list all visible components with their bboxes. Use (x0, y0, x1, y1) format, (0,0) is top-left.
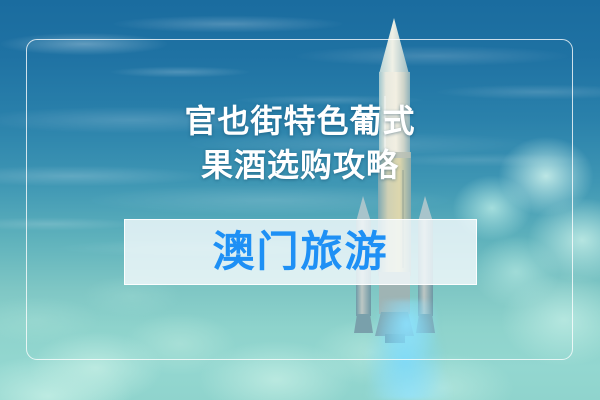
headline: 官也街特色葡式 果酒选购攻略 (0, 100, 600, 187)
headline-line-1: 官也街特色葡式 (0, 100, 600, 144)
headline-line-2: 果酒选购攻略 (0, 144, 600, 188)
rocket-illustration (0, 0, 600, 400)
subtitle-band-label: 澳门旅游 (212, 231, 388, 273)
rocket-exhaust-plume (352, 300, 462, 400)
promo-banner: 官也街特色葡式 果酒选购攻略 澳门旅游 (0, 0, 600, 400)
subtitle-band: 澳门旅游 (124, 219, 477, 285)
